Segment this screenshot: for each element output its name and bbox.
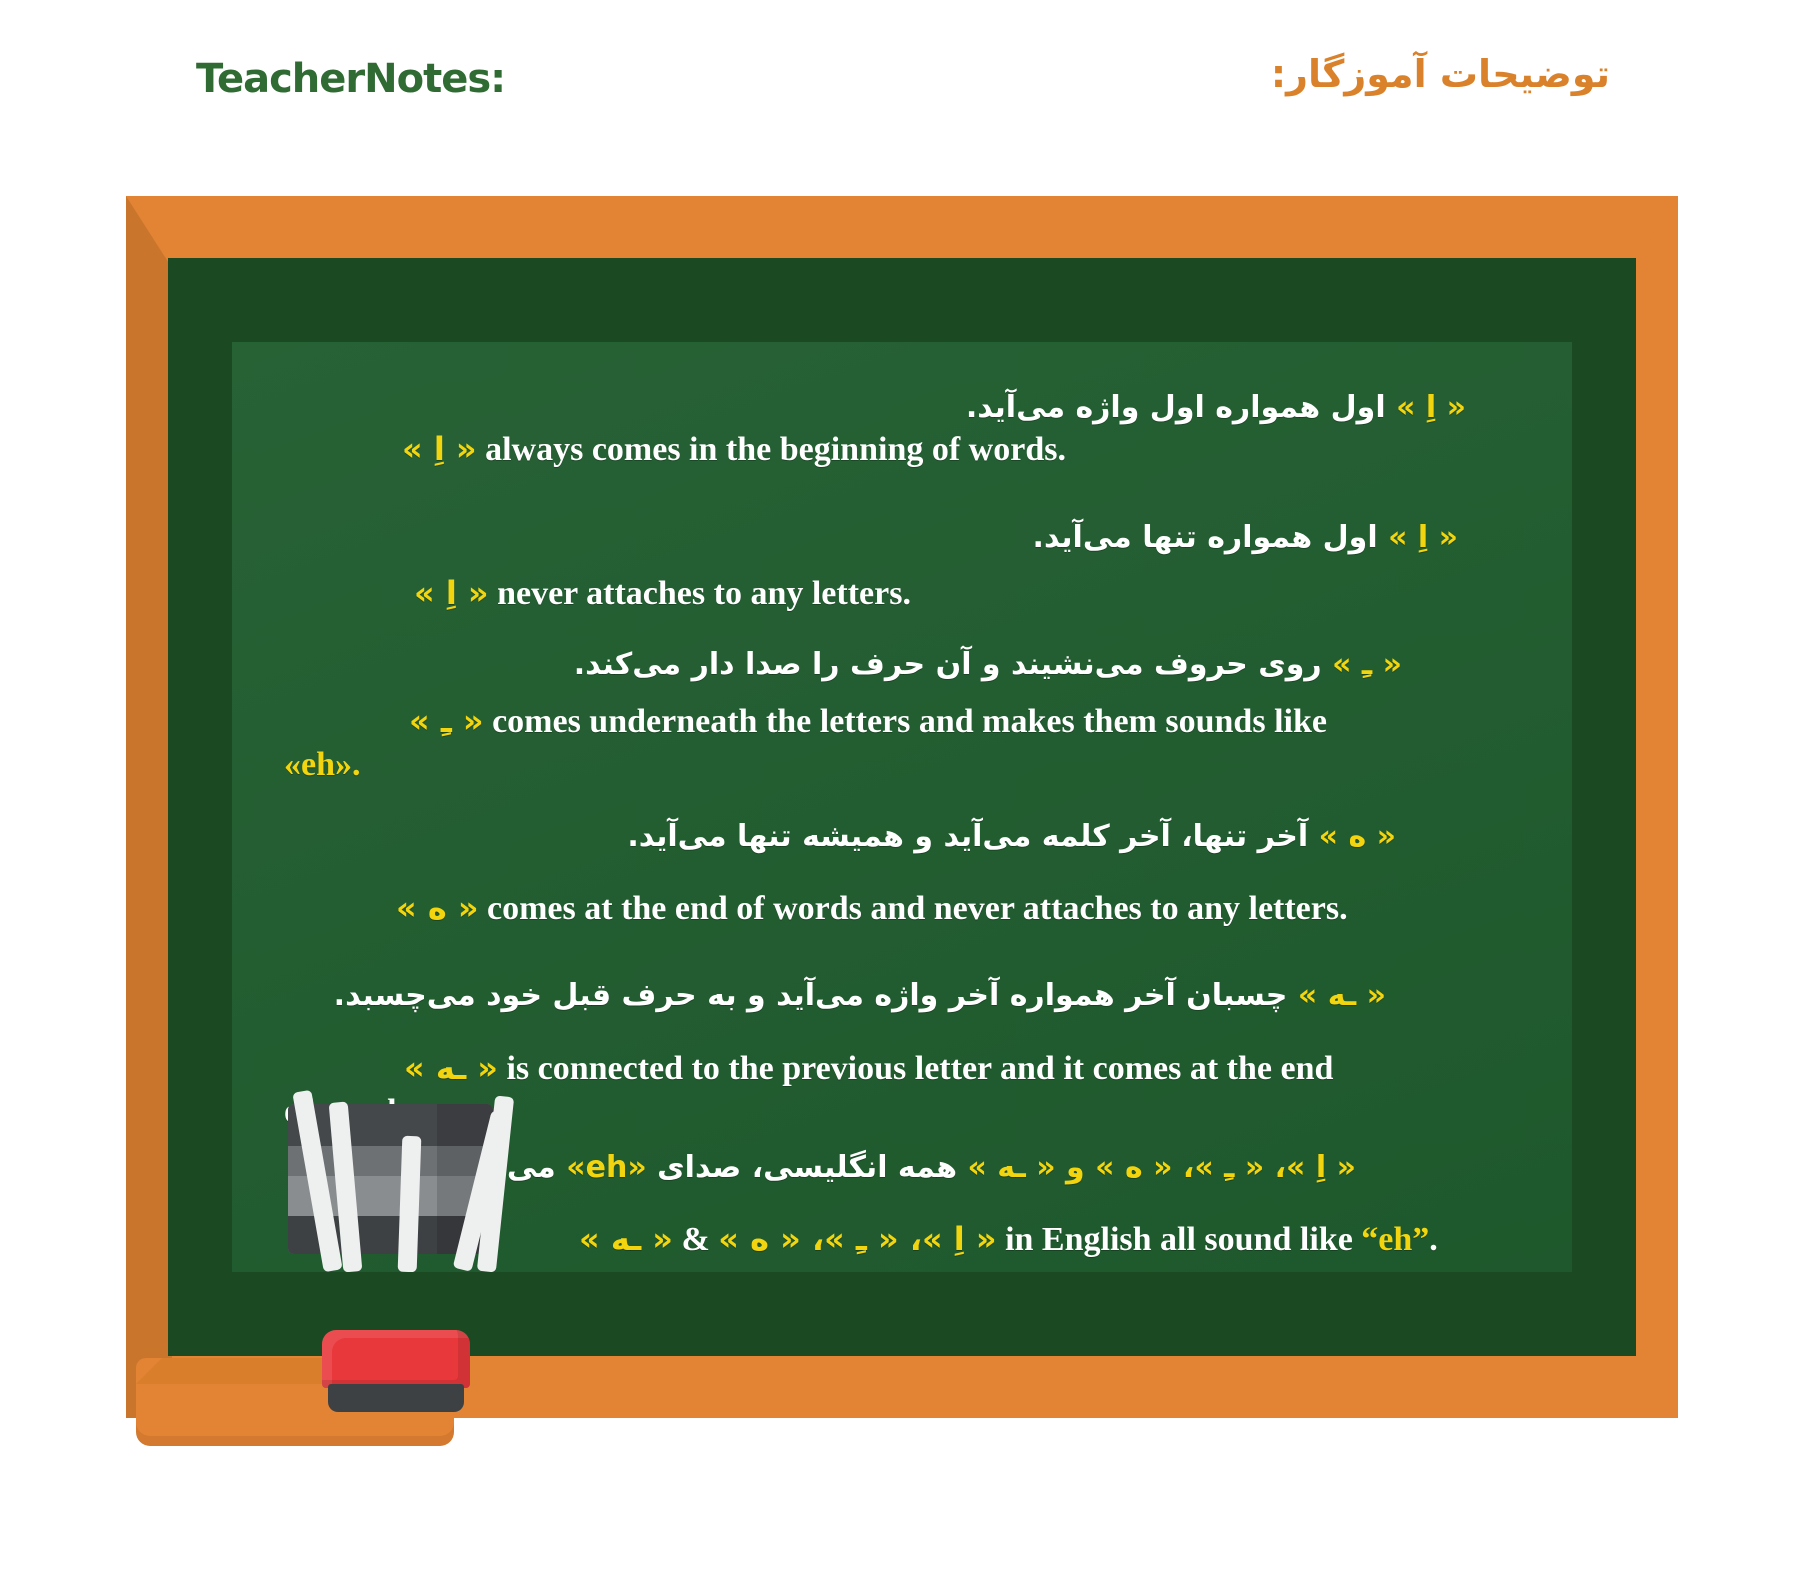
note-line-1-english-text: always comes in the beginning of words. [485, 431, 1066, 468]
letter-token-alef-kasra: « اِ » [402, 430, 477, 468]
page-title-persian: توضیحات آموزگار: [1271, 52, 1610, 96]
note-line-3-english: « ـِ » comes underneath the letters and … [284, 700, 1520, 744]
note-line-5-english: « ـه » is connected to the previous lett… [284, 1047, 1520, 1091]
note-line-1-persian-text: اول همواره اول واژه می‌آید. [966, 390, 1386, 425]
note-line-5-persian-text: چسبان آخر همواره آخر واژه می‌آید و به حر… [334, 978, 1288, 1013]
spacer [284, 787, 1520, 817]
page-header: TeacherNotes: توضیحات آموزگار: [0, 0, 1800, 150]
letter-token-he: « ه » [1319, 819, 1396, 854]
sound-token-eh: «eh». [284, 746, 361, 783]
letter-token-he-final: « ـه » [404, 1049, 498, 1087]
note-line-2-english-text: never attaches to any letters. [497, 575, 911, 612]
note-line-4-english-text: comes at the end of words and never atta… [487, 890, 1348, 927]
spacer [284, 857, 1520, 887]
note-line-3-english-text: comes underneath the letters and makes t… [492, 703, 1327, 740]
sound-token-eh: «eh» [566, 1150, 647, 1185]
eraser-icon [322, 1330, 470, 1412]
note-line-3-persian-text: روی حروف می‌نشیند و آن حرف را صدا دار می… [574, 647, 1322, 682]
chalkboard: « اِ » اول همواره اول واژه می‌آید. « اِ … [126, 196, 1678, 1418]
chalkboard-surface: « اِ » اول همواره اول واژه می‌آید. « اِ … [232, 342, 1572, 1272]
letter-token-kasra: « ـِ » [409, 702, 484, 740]
note-line-3-persian: « ـِ » روی حروف می‌نشیند و آن حرف را صدا… [284, 645, 1520, 685]
note-line-2-english: « اِ » never attaches to any letters. [284, 572, 1520, 616]
letter-token-he-final: « ـه » [1298, 978, 1386, 1013]
letter-token-group: « اِ »، « ـِ »، « ه » و « ـه » [967, 1150, 1356, 1185]
note-line-2-persian: « اِ » اول همواره تنها می‌آید. [284, 518, 1520, 558]
note-line-3-english-cont: «eh». [284, 743, 1520, 787]
frame-bevel-left [126, 196, 168, 1418]
note-summary-english-period: . [1429, 1221, 1438, 1258]
spacer [284, 930, 1520, 976]
spacer [284, 686, 1520, 700]
spacer [284, 472, 1520, 518]
letter-token-alef-kasra: « اِ » [1396, 390, 1466, 425]
eraser-top [322, 1330, 470, 1388]
note-line-4-persian: « ه » آخر تنها، آخر کلمه می‌آید و همیشه … [284, 817, 1520, 857]
sound-token-eh: “eh” [1361, 1221, 1429, 1258]
spacer [284, 558, 1520, 572]
letter-token-he: « ه » [396, 889, 479, 927]
note-line-4-persian-text: آخر تنها، آخر کلمه می‌آید و همیشه تنها م… [627, 819, 1308, 854]
spacer [284, 615, 1520, 645]
spacer [284, 1017, 1520, 1047]
ampersand: & [681, 1221, 709, 1258]
note-line-4-english: « ه » comes at the end of words and neve… [284, 887, 1520, 931]
note-line-2-persian-text: اول همواره تنها می‌آید. [1033, 520, 1378, 555]
chalkboard-inner-border: « اِ » اول همواره اول واژه می‌آید. « اِ … [168, 258, 1636, 1356]
note-line-1-persian: « اِ » اول همواره اول واژه می‌آید. [284, 388, 1520, 428]
note-line-5-persian: « ـه » چسبان آخر همواره آخر واژه می‌آید … [284, 976, 1520, 1016]
note-summary-english-text: in English all sound like [1005, 1221, 1353, 1258]
note-summary-persian-text: همه انگلیسی، صدای [657, 1150, 957, 1185]
eraser-base [328, 1384, 464, 1412]
page-title-english: TeacherNotes: [196, 56, 505, 102]
note-line-1-english: « اِ » always comes in the beginning of … [284, 428, 1520, 472]
letter-token-alef-kasra: « اِ » [1388, 520, 1458, 555]
letter-token-kasra: « ـِ » [1332, 647, 1402, 682]
note-line-5-english-text: is connected to the previous letter and … [506, 1050, 1333, 1087]
letter-token-alef-kasra: « اِ » [414, 574, 489, 612]
